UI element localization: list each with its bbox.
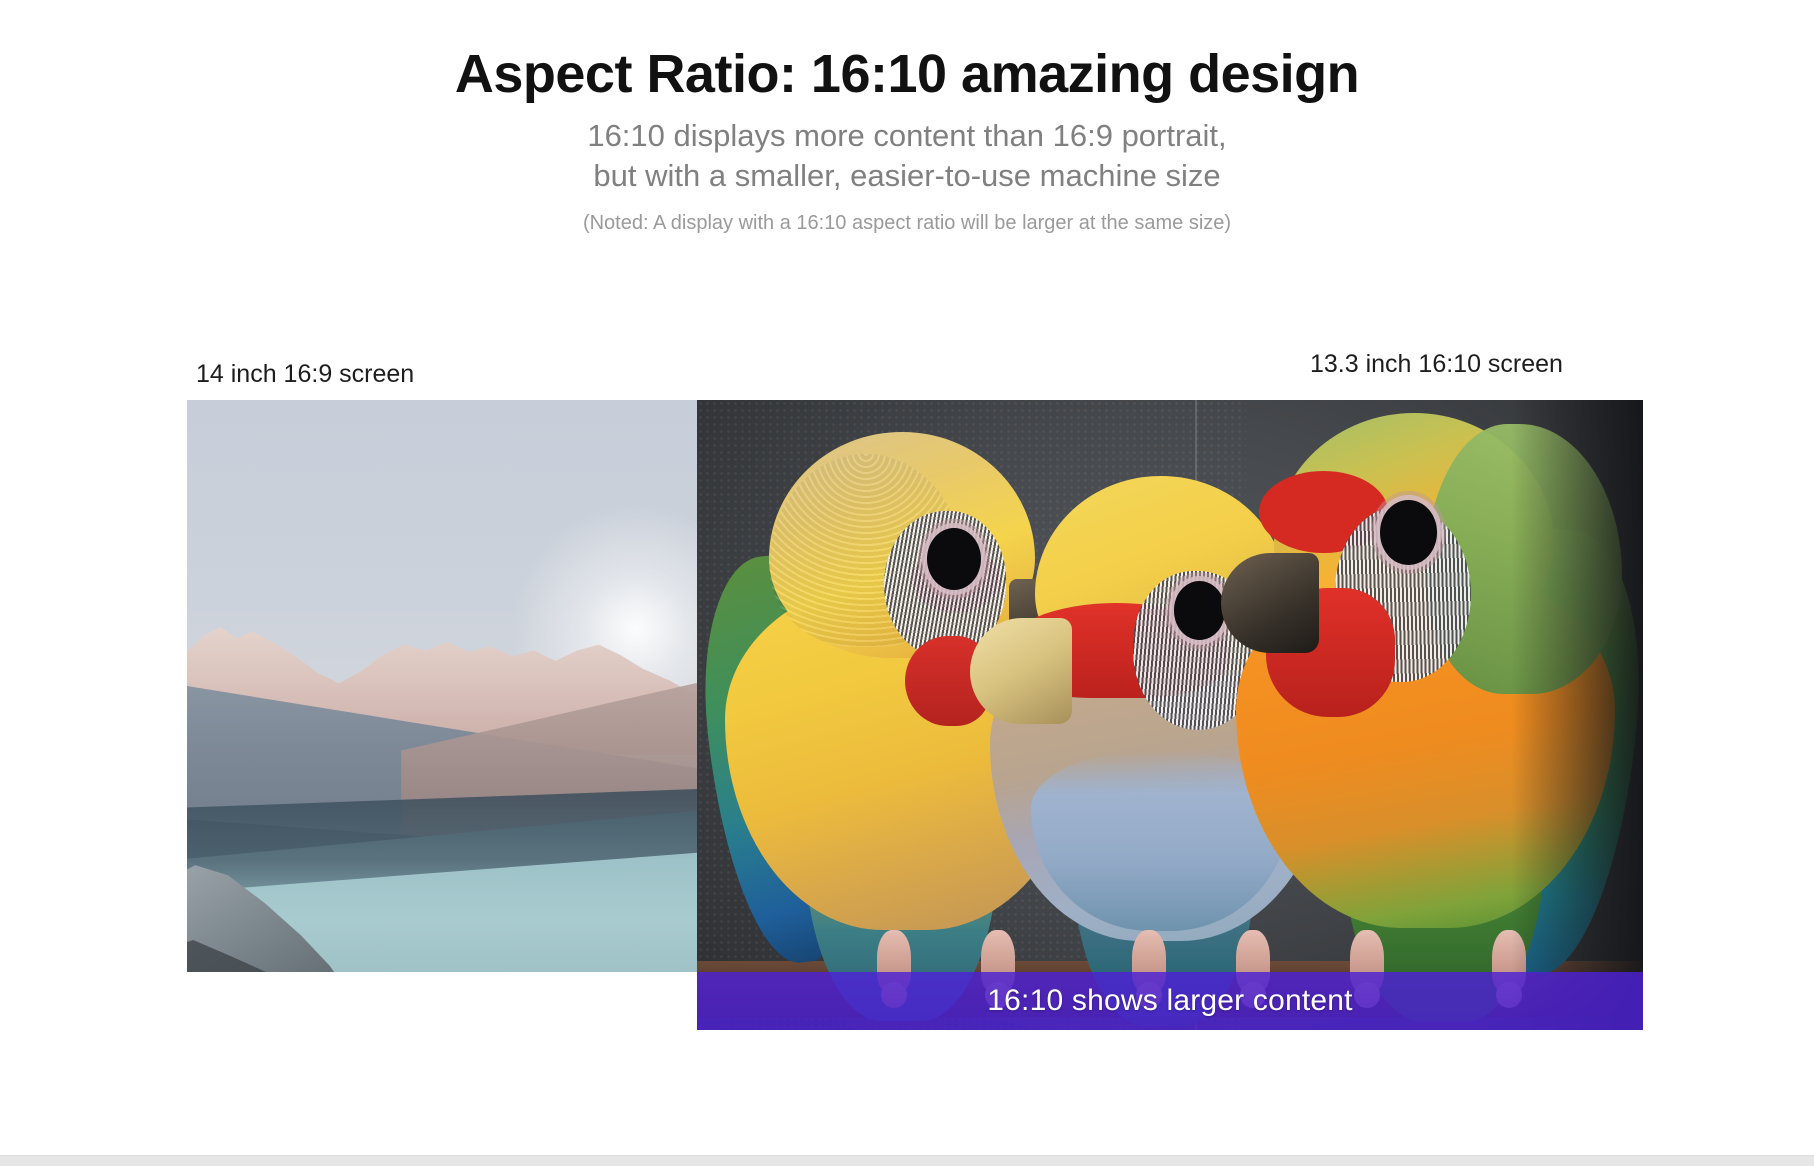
parrot-middle-beak bbox=[970, 618, 1072, 724]
subtitle-line-2: but with a smaller, easier-to-use machin… bbox=[0, 156, 1814, 196]
page-subtitle: 16:10 displays more content than 16:9 po… bbox=[0, 116, 1814, 195]
page-title: Aspect Ratio: 16:10 amazing design bbox=[0, 44, 1814, 104]
screen-16-9-panel bbox=[187, 400, 697, 972]
parrot-left-eye bbox=[927, 528, 981, 590]
page-bottom-bar bbox=[0, 1155, 1814, 1166]
page-root: Aspect Ratio: 16:10 amazing design 16:10… bbox=[0, 0, 1814, 1166]
parrot-right-beak bbox=[1221, 553, 1319, 653]
screen-16-10-panel: 16:10 shows larger content bbox=[697, 400, 1643, 1030]
subtitle-line-1: 16:10 displays more content than 16:9 po… bbox=[0, 116, 1814, 156]
page-note: (Noted: A display with a 16:10 aspect ra… bbox=[0, 210, 1814, 236]
parrot-right bbox=[1236, 413, 1614, 999]
banner-label: 16:10 shows larger content bbox=[987, 984, 1352, 1018]
parrot-right-eye bbox=[1380, 500, 1437, 564]
right-screen-label: 13.3 inch 16:10 screen bbox=[1310, 350, 1563, 379]
header-block: Aspect Ratio: 16:10 amazing design 16:10… bbox=[0, 44, 1814, 236]
parrot-middle-eye bbox=[1174, 581, 1225, 639]
left-screen-label: 14 inch 16:9 screen bbox=[196, 360, 414, 389]
larger-content-banner: 16:10 shows larger content bbox=[697, 972, 1643, 1030]
